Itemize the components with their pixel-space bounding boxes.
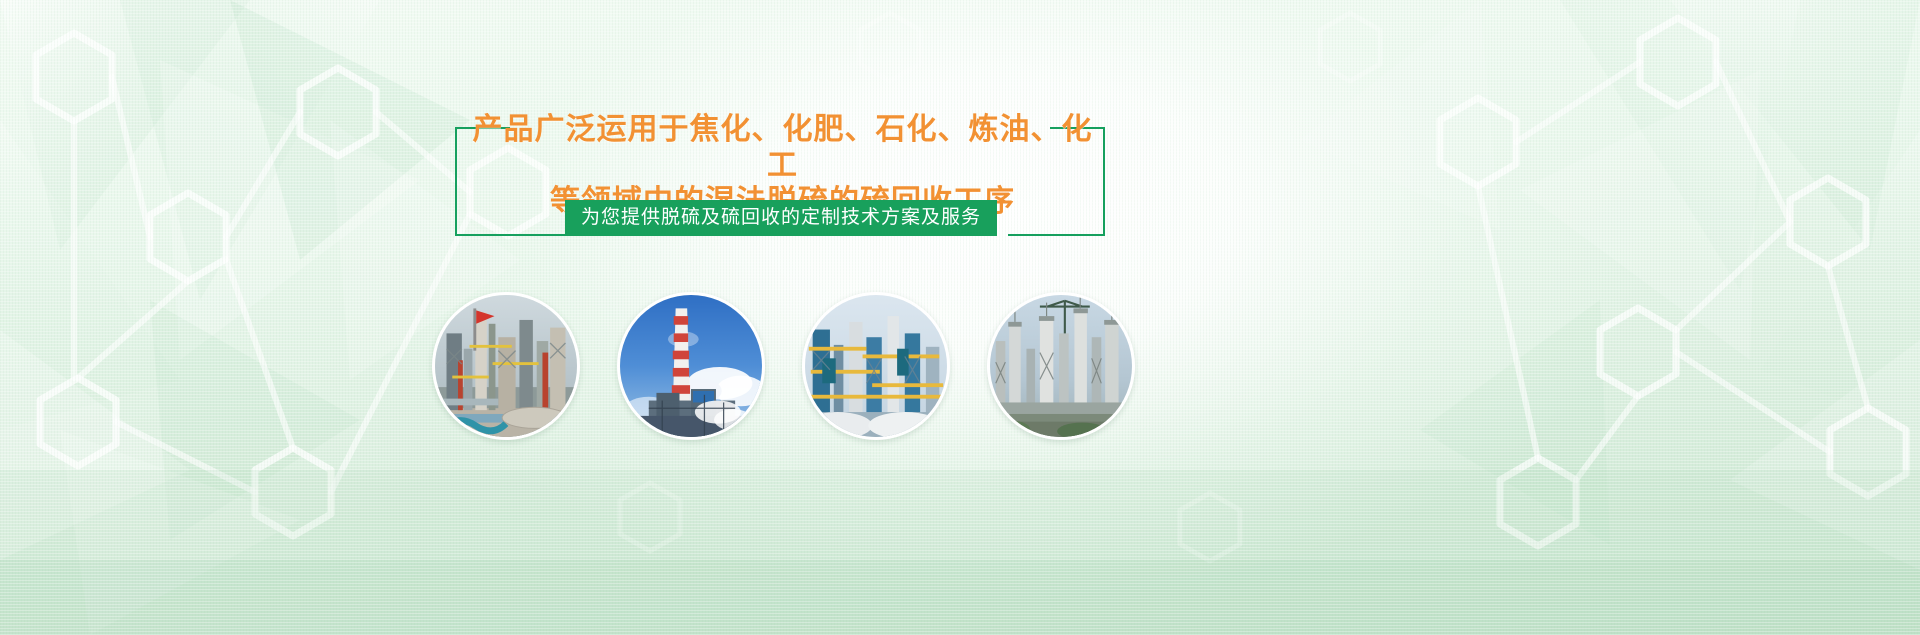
hero-banner: 产品广泛运用于焦化、化肥、石化、炼油、化工 等领域中的湿法脱硫的硫回收工序 为您… [0, 0, 1920, 635]
photo-circle-distillation-towers [987, 292, 1135, 440]
subtitle-banner: 为您提供脱硫及硫回收的定制技术方案及服务 [565, 200, 997, 236]
frame-left-rule [455, 127, 457, 236]
photo-circle-desulfurization-unit [802, 292, 950, 440]
photo-circle-refinery-piping [432, 292, 580, 440]
frame-bottom-left-segment [455, 234, 565, 236]
photo-strip [0, 292, 1920, 442]
headline-line-1: 产品广泛运用于焦化、化肥、石化、炼油、化工 [460, 112, 1105, 184]
photo-circle-chimney-stack [617, 292, 765, 440]
banner-content: 产品广泛运用于焦化、化肥、石化、炼油、化工 等领域中的湿法脱硫的硫回收工序 为您… [0, 0, 1920, 635]
frame-bottom-right-segment [1008, 234, 1105, 236]
